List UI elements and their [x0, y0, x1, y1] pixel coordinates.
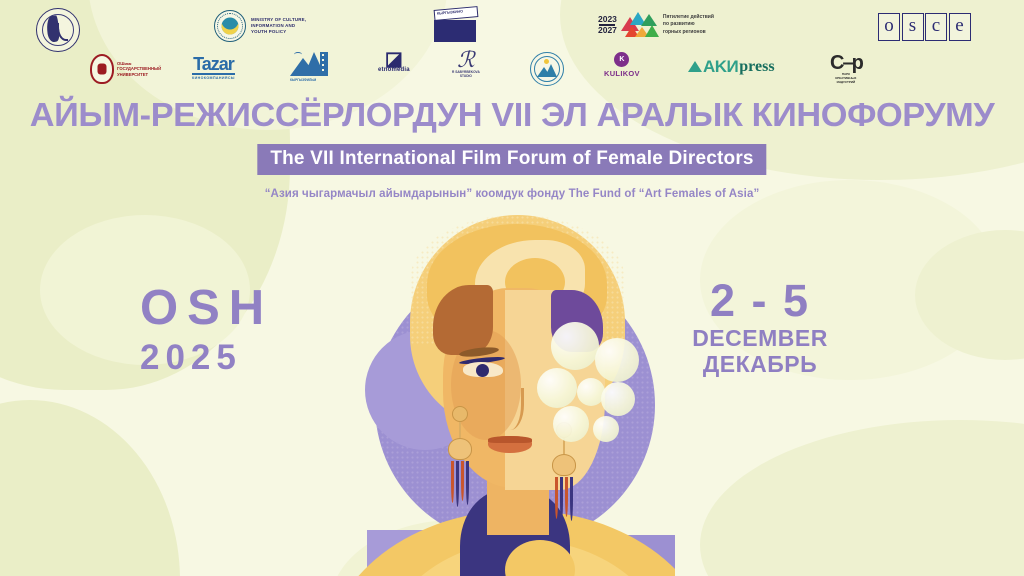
year-to: 2027	[598, 25, 617, 35]
film-clapper-icon: КЫРГЫЗКИНО ДЕПАРТАМЕНТИ	[432, 8, 478, 42]
eye	[463, 362, 503, 377]
state-seal-icon	[214, 10, 246, 42]
mountain-seal-icon	[530, 52, 564, 86]
bubble-overlay	[551, 322, 599, 370]
colored-mountains-icon	[621, 12, 659, 38]
akipress-label-a: AKИ	[703, 58, 738, 75]
month-russian: ДЕКАБРЬ	[690, 351, 830, 377]
decade-years: 2023 2027	[598, 15, 617, 36]
tazar-logo: Tazar КИНОКОМПАНИЯСЫ	[192, 56, 235, 80]
bubble-overlay	[601, 382, 635, 416]
organizing-fund-line: “Азия чыгармачыл айымдарынын” коомдук фо…	[0, 188, 1024, 200]
female-director-portrait-illustration	[355, 210, 675, 576]
background-swirl	[0, 400, 180, 576]
cinematography-department-logo: КЫРГЫЗКИНО ДЕПАРТАМЕНТИ	[432, 8, 478, 42]
akipress-label-b: press	[739, 59, 774, 75]
park-label: ПАРККРЕАТИВНЫХИНДУСТРИЙ	[830, 73, 862, 85]
ministry-label: MINISTRY OF CULTURE,INFORMATION ANDYOUTH…	[251, 17, 306, 35]
background-swirl	[700, 420, 1024, 576]
film-forum-poster: MINISTRY OF CULTURE,INFORMATION ANDYOUTH…	[0, 0, 1024, 576]
kulikov-logo: K KULIKOV	[604, 52, 640, 78]
osh-university-label: ОШмамГОСУДАРСТВЕННЫЙУНИВЕРСИТЕТ	[117, 61, 161, 77]
tazar-wordmark: Tazar	[192, 56, 235, 72]
location-block: OSH 2025	[140, 284, 273, 378]
osce-logo: osce	[878, 13, 971, 41]
bubble-overlay	[553, 406, 589, 442]
tazar-sub: КИНОКОМПАНИЯСЫ	[192, 76, 235, 80]
kulikov-label: KULIKOV	[604, 69, 640, 78]
upper-lip	[488, 436, 532, 443]
fund-emblem-logo	[36, 8, 80, 52]
c-p-mark-icon: C–р	[830, 54, 862, 73]
date-range: 2 - 5	[690, 278, 830, 323]
creative-industries-park-logo: C–р ПАРККРЕАТИВНЫХИНДУСТРИЙ	[830, 54, 862, 85]
sponsor-logo-strip: MINISTRY OF CULTURE,INFORMATION ANDYOUTH…	[0, 0, 1024, 92]
r-studio-logo: ℛ R SABYRBEKOVASTUDIO	[452, 50, 480, 78]
ministry-of-culture-logo: MINISTRY OF CULTURE,INFORMATION ANDYOUTH…	[214, 10, 306, 42]
circle-monogram-icon: K	[614, 52, 629, 67]
city-label: OSH	[140, 284, 273, 333]
page-title-kyrgyz: АЙЫМ-РЕЖИССЁРЛОРДУН VII ЭЛ АРАЛЫК КИНОФО…	[0, 96, 1024, 134]
etnomedia-logo: ◪ etnomedia	[378, 52, 410, 73]
r-studio-label: R SABYRBEKOVASTUDIO	[452, 70, 480, 78]
mountain-decade-logo: 2023 2027 Пятилетие действийпо развитиюг…	[598, 12, 714, 38]
mountain-glyph-icon	[688, 61, 702, 72]
english-title-band: The VII International Film Forum of Fema…	[257, 144, 766, 175]
osce-wordmark-icon: osce	[878, 13, 971, 41]
bubble-overlay	[537, 368, 577, 408]
etnomedia-label: etnomedia	[378, 67, 410, 73]
page-title-english: The VII International Film Forum of Fema…	[270, 148, 753, 170]
dates-block: 2 - 5 DECEMBER ДЕКАБРЬ	[690, 278, 830, 378]
bubble-overlay	[595, 338, 639, 382]
script-monogram-icon: ℛ	[452, 50, 480, 70]
osh-city-seal-logo	[530, 52, 564, 86]
circular-bird-harp-emblem-icon	[36, 8, 80, 52]
kyrgyzfilm-logo: КЫРГЫЗФИЛЬМ	[290, 52, 328, 82]
film-strip-mountain-icon: КЫРГЫЗФИЛЬМ	[290, 52, 328, 82]
year-from: 2023	[598, 14, 617, 24]
bubble-overlay	[593, 416, 619, 442]
year-label: 2025	[140, 338, 273, 378]
arrow-glyph-icon: ◪	[378, 52, 410, 67]
shield-mark-icon	[90, 54, 114, 84]
month-english: DECEMBER	[690, 325, 830, 351]
osh-state-university-logo: ОШмамГОСУДАРСТВЕННЫЙУНИВЕРСИТЕТ	[90, 54, 161, 84]
earring-left	[447, 406, 473, 507]
akipress-logo: AKИ press	[688, 58, 775, 75]
decade-label: Пятилетие действийпо развитиюгорных реги…	[663, 14, 714, 36]
